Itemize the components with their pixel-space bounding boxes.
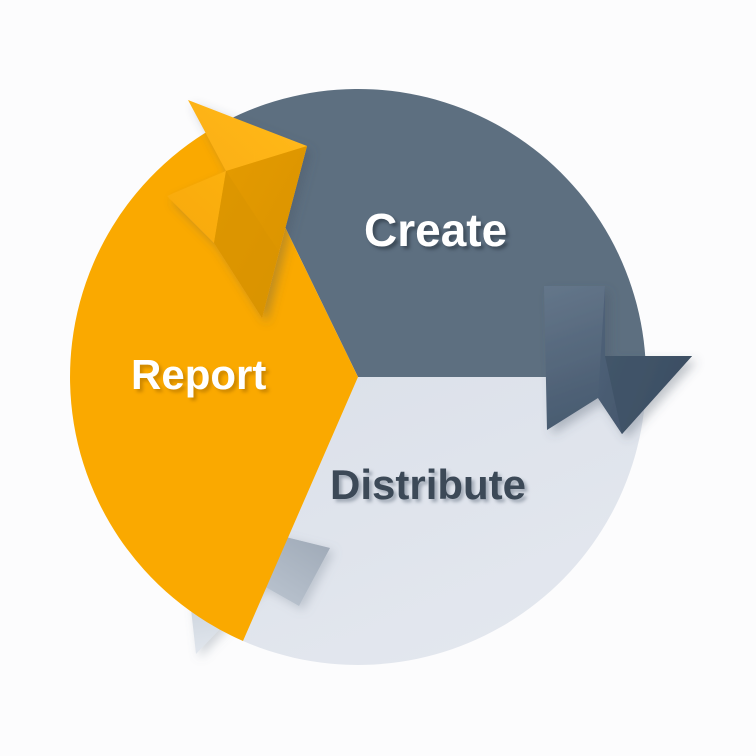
segment-label-create: Create — [364, 203, 507, 257]
cycle-diagram: Create Report Distribute — [0, 0, 756, 756]
cycle-diagram-graphic — [0, 0, 756, 756]
segment-label-distribute: Distribute — [330, 461, 526, 509]
segment-label-report: Report — [131, 351, 266, 399]
